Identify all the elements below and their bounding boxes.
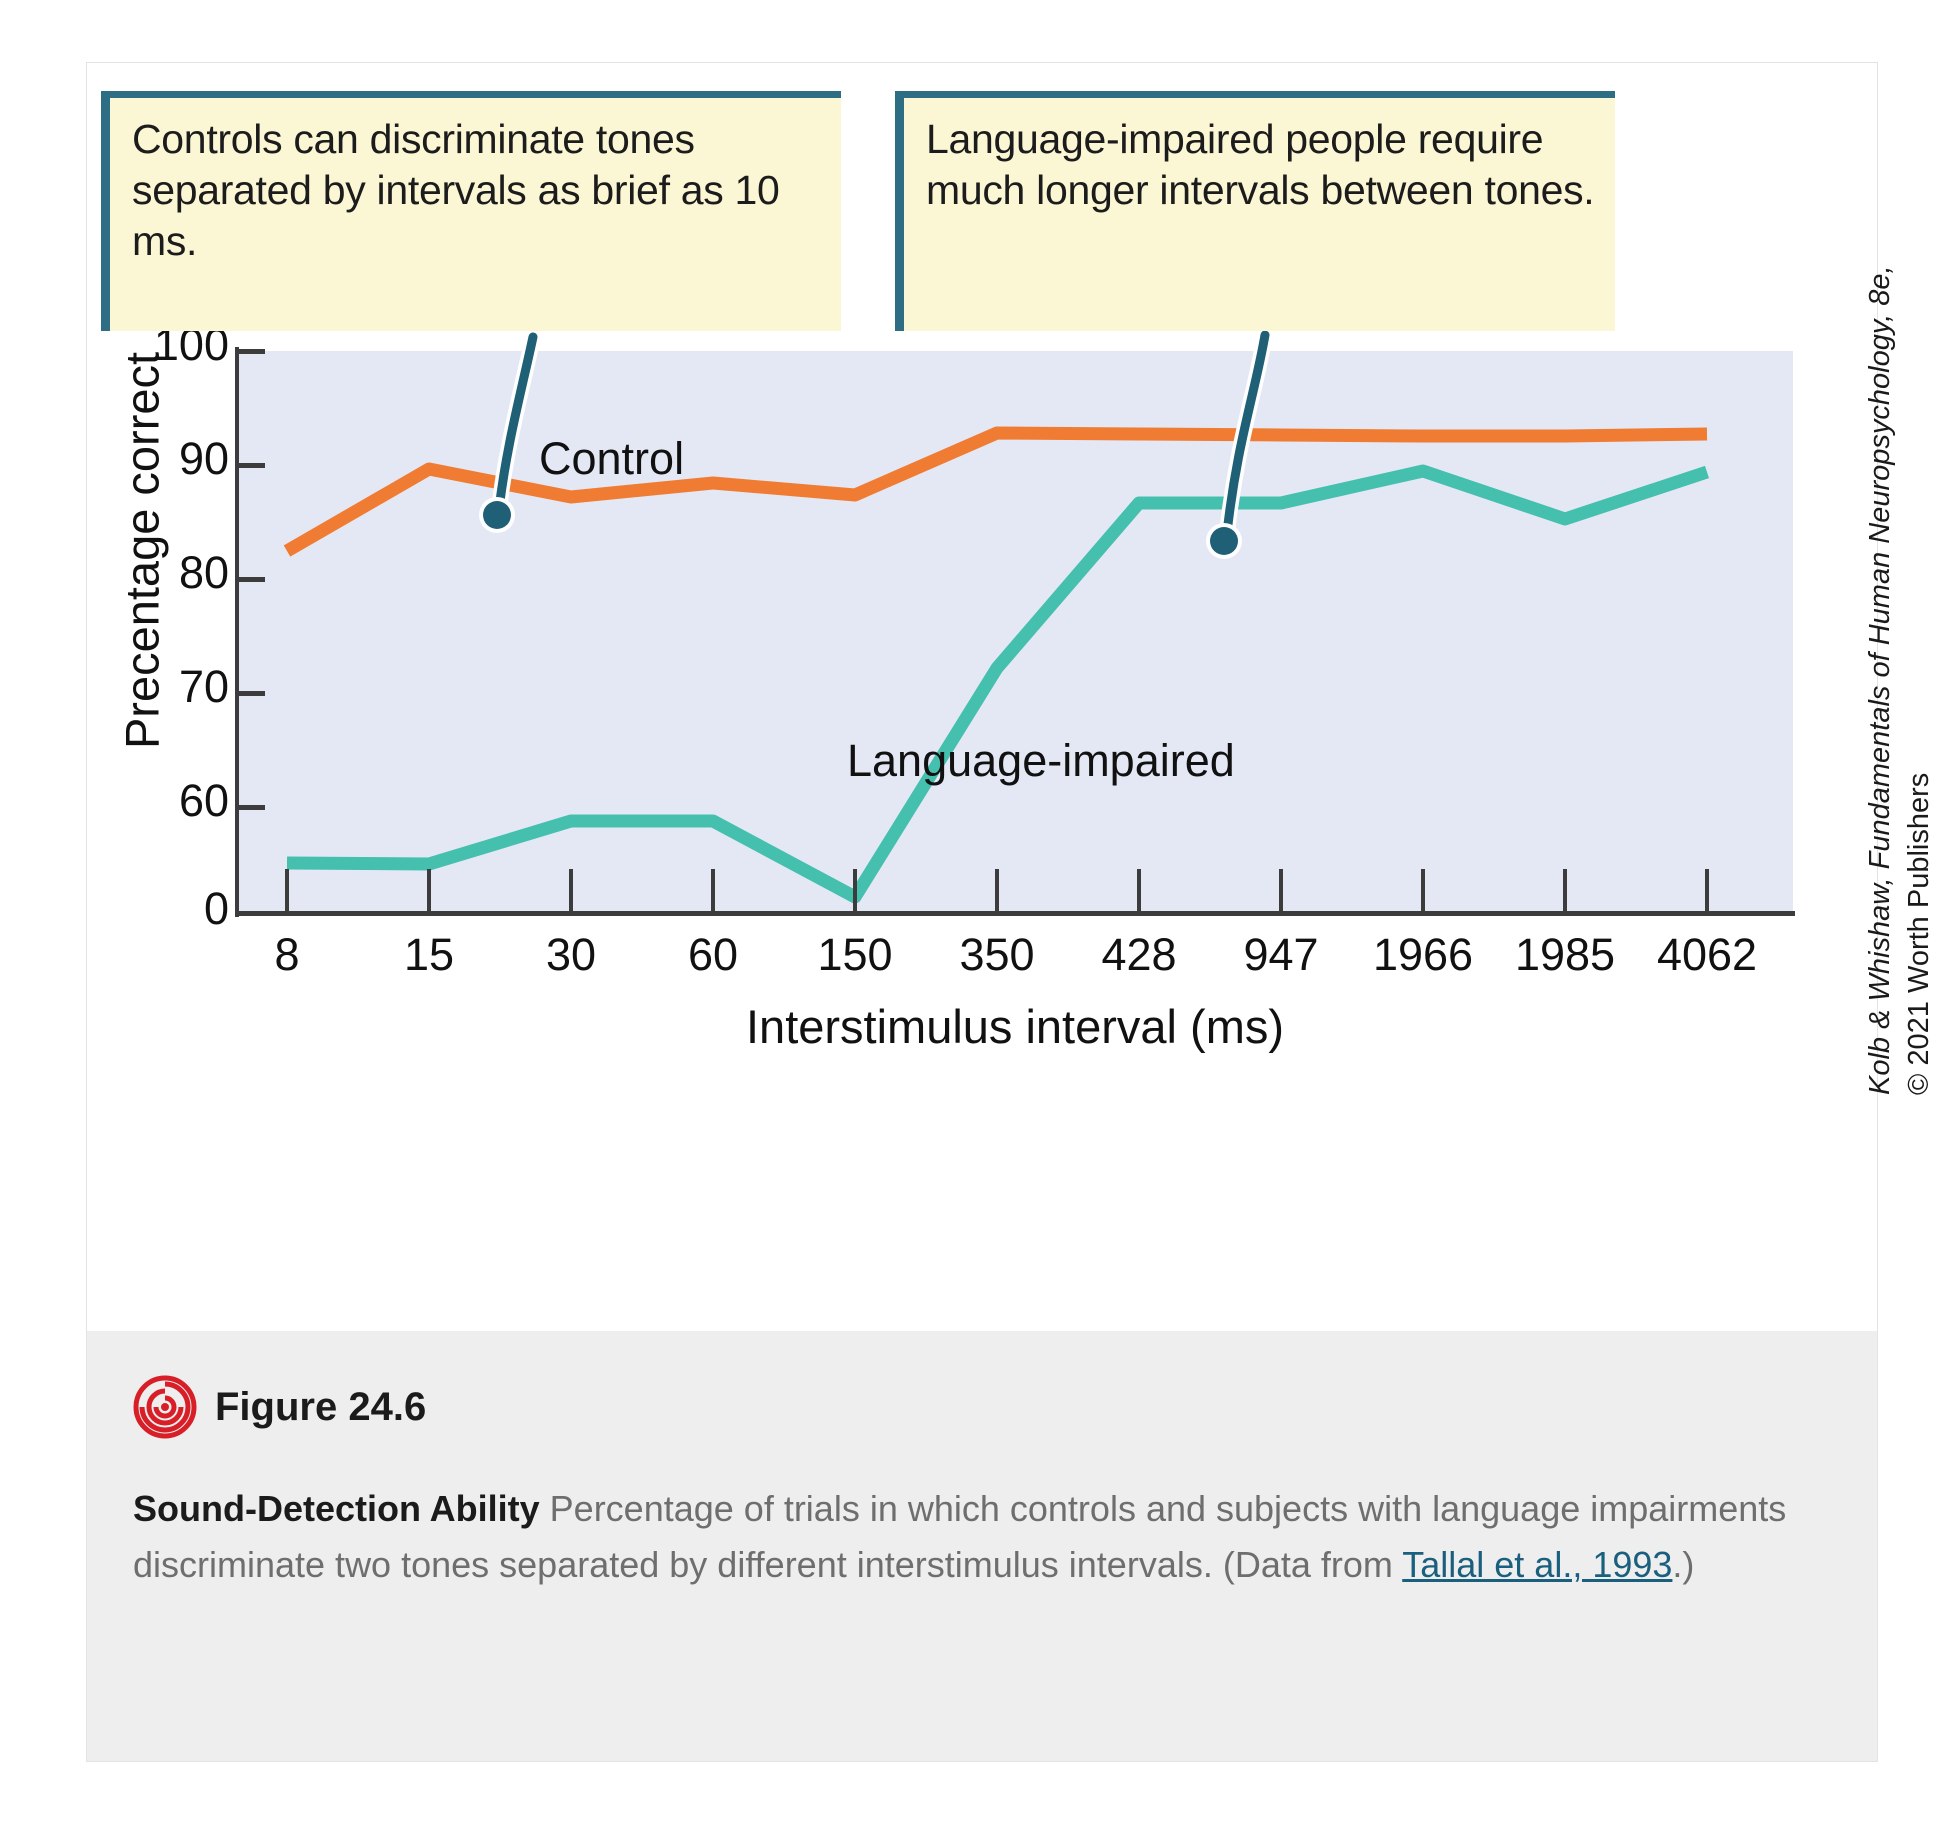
figure-number-label: Figure 24.6 (215, 1385, 426, 1430)
y-axis-title: Precentage correct (115, 271, 170, 831)
x-tick-8 (285, 869, 289, 913)
chart-panel: 100 90 80 70 60 0 8 15 30 (87, 63, 1877, 1331)
y-tick-100 (239, 349, 265, 354)
callout-controls-text: Controls can discriminate tones separate… (132, 114, 821, 266)
x-tick-label-1: 15 (354, 929, 504, 981)
caption-bold-lead: Sound-Detection Ability (133, 1488, 540, 1529)
x-tick-label-2: 30 (496, 929, 646, 981)
x-tick-label-7: 947 (1206, 929, 1356, 981)
y-tick-70 (239, 691, 265, 696)
x-axis-line (235, 911, 1795, 916)
x-tick-947 (1279, 869, 1283, 913)
y-tick-60 (239, 805, 265, 810)
x-tick-4062 (1705, 869, 1709, 913)
x-tick-428 (1137, 869, 1141, 913)
publisher-credit-inner: Kolb & Whishaw, Fundamentals of Human Ne… (1861, 95, 1939, 1095)
series-label-control: Control (539, 433, 684, 485)
y-tick-80 (239, 577, 265, 582)
x-tick-60 (711, 869, 715, 913)
y-tick-90 (239, 463, 265, 468)
series-label-language-impaired: Language-impaired (847, 735, 1235, 787)
x-tick-1966 (1421, 869, 1425, 913)
x-tick-30 (569, 869, 573, 913)
caption-text-part-2: .) (1672, 1544, 1694, 1585)
x-tick-label-9: 1985 (1490, 929, 1640, 981)
caption-block: Figure 24.6 Sound-Detection Ability Perc… (87, 1331, 1877, 1761)
callout-controls: Controls can discriminate tones separate… (101, 91, 841, 331)
credit-line-1: Kolb & Whishaw, Fundamentals of Human Ne… (1864, 265, 1896, 1095)
caption-citation-link[interactable]: Tallal et al., 1993 (1402, 1544, 1672, 1585)
y-axis-line (235, 347, 239, 917)
callout-language-impaired-text: Language-impaired people require much lo… (926, 114, 1595, 216)
publisher-credit: Kolb & Whishaw, Fundamentals of Human Ne… (1757, 91, 1873, 1101)
x-tick-label-8: 1966 (1348, 929, 1498, 981)
x-tick-label-6: 428 (1064, 929, 1214, 981)
x-tick-150 (853, 869, 857, 913)
x-axis-title: Interstimulus interval (ms) (237, 999, 1793, 1054)
caption-body: Sound-Detection Ability Percentage of tr… (133, 1481, 1821, 1593)
leader-dot-impaired-fill (1210, 527, 1238, 555)
figure-frame: 100 90 80 70 60 0 8 15 30 (86, 62, 1878, 1762)
x-tick-1985 (1563, 869, 1567, 913)
x-tick-label-4: 150 (780, 929, 930, 981)
callout-language-impaired: Language-impaired people require much lo… (895, 91, 1615, 331)
x-tick-label-5: 350 (922, 929, 1072, 981)
leader-dot-controls-fill (483, 501, 511, 529)
x-tick-15 (427, 869, 431, 913)
credit-line-2: © 2021 Worth Publishers (1903, 773, 1935, 1095)
x-tick-label-0: 8 (212, 929, 362, 981)
y-tick-label-0: 0 (99, 883, 229, 935)
series-line-language-impaired (287, 471, 1707, 897)
figure-page: 100 90 80 70 60 0 8 15 30 (0, 0, 1950, 1844)
x-tick-label-3: 60 (638, 929, 788, 981)
caption-header: Figure 24.6 (133, 1375, 1821, 1439)
x-tick-350 (995, 869, 999, 913)
maze-target-icon (133, 1375, 197, 1439)
